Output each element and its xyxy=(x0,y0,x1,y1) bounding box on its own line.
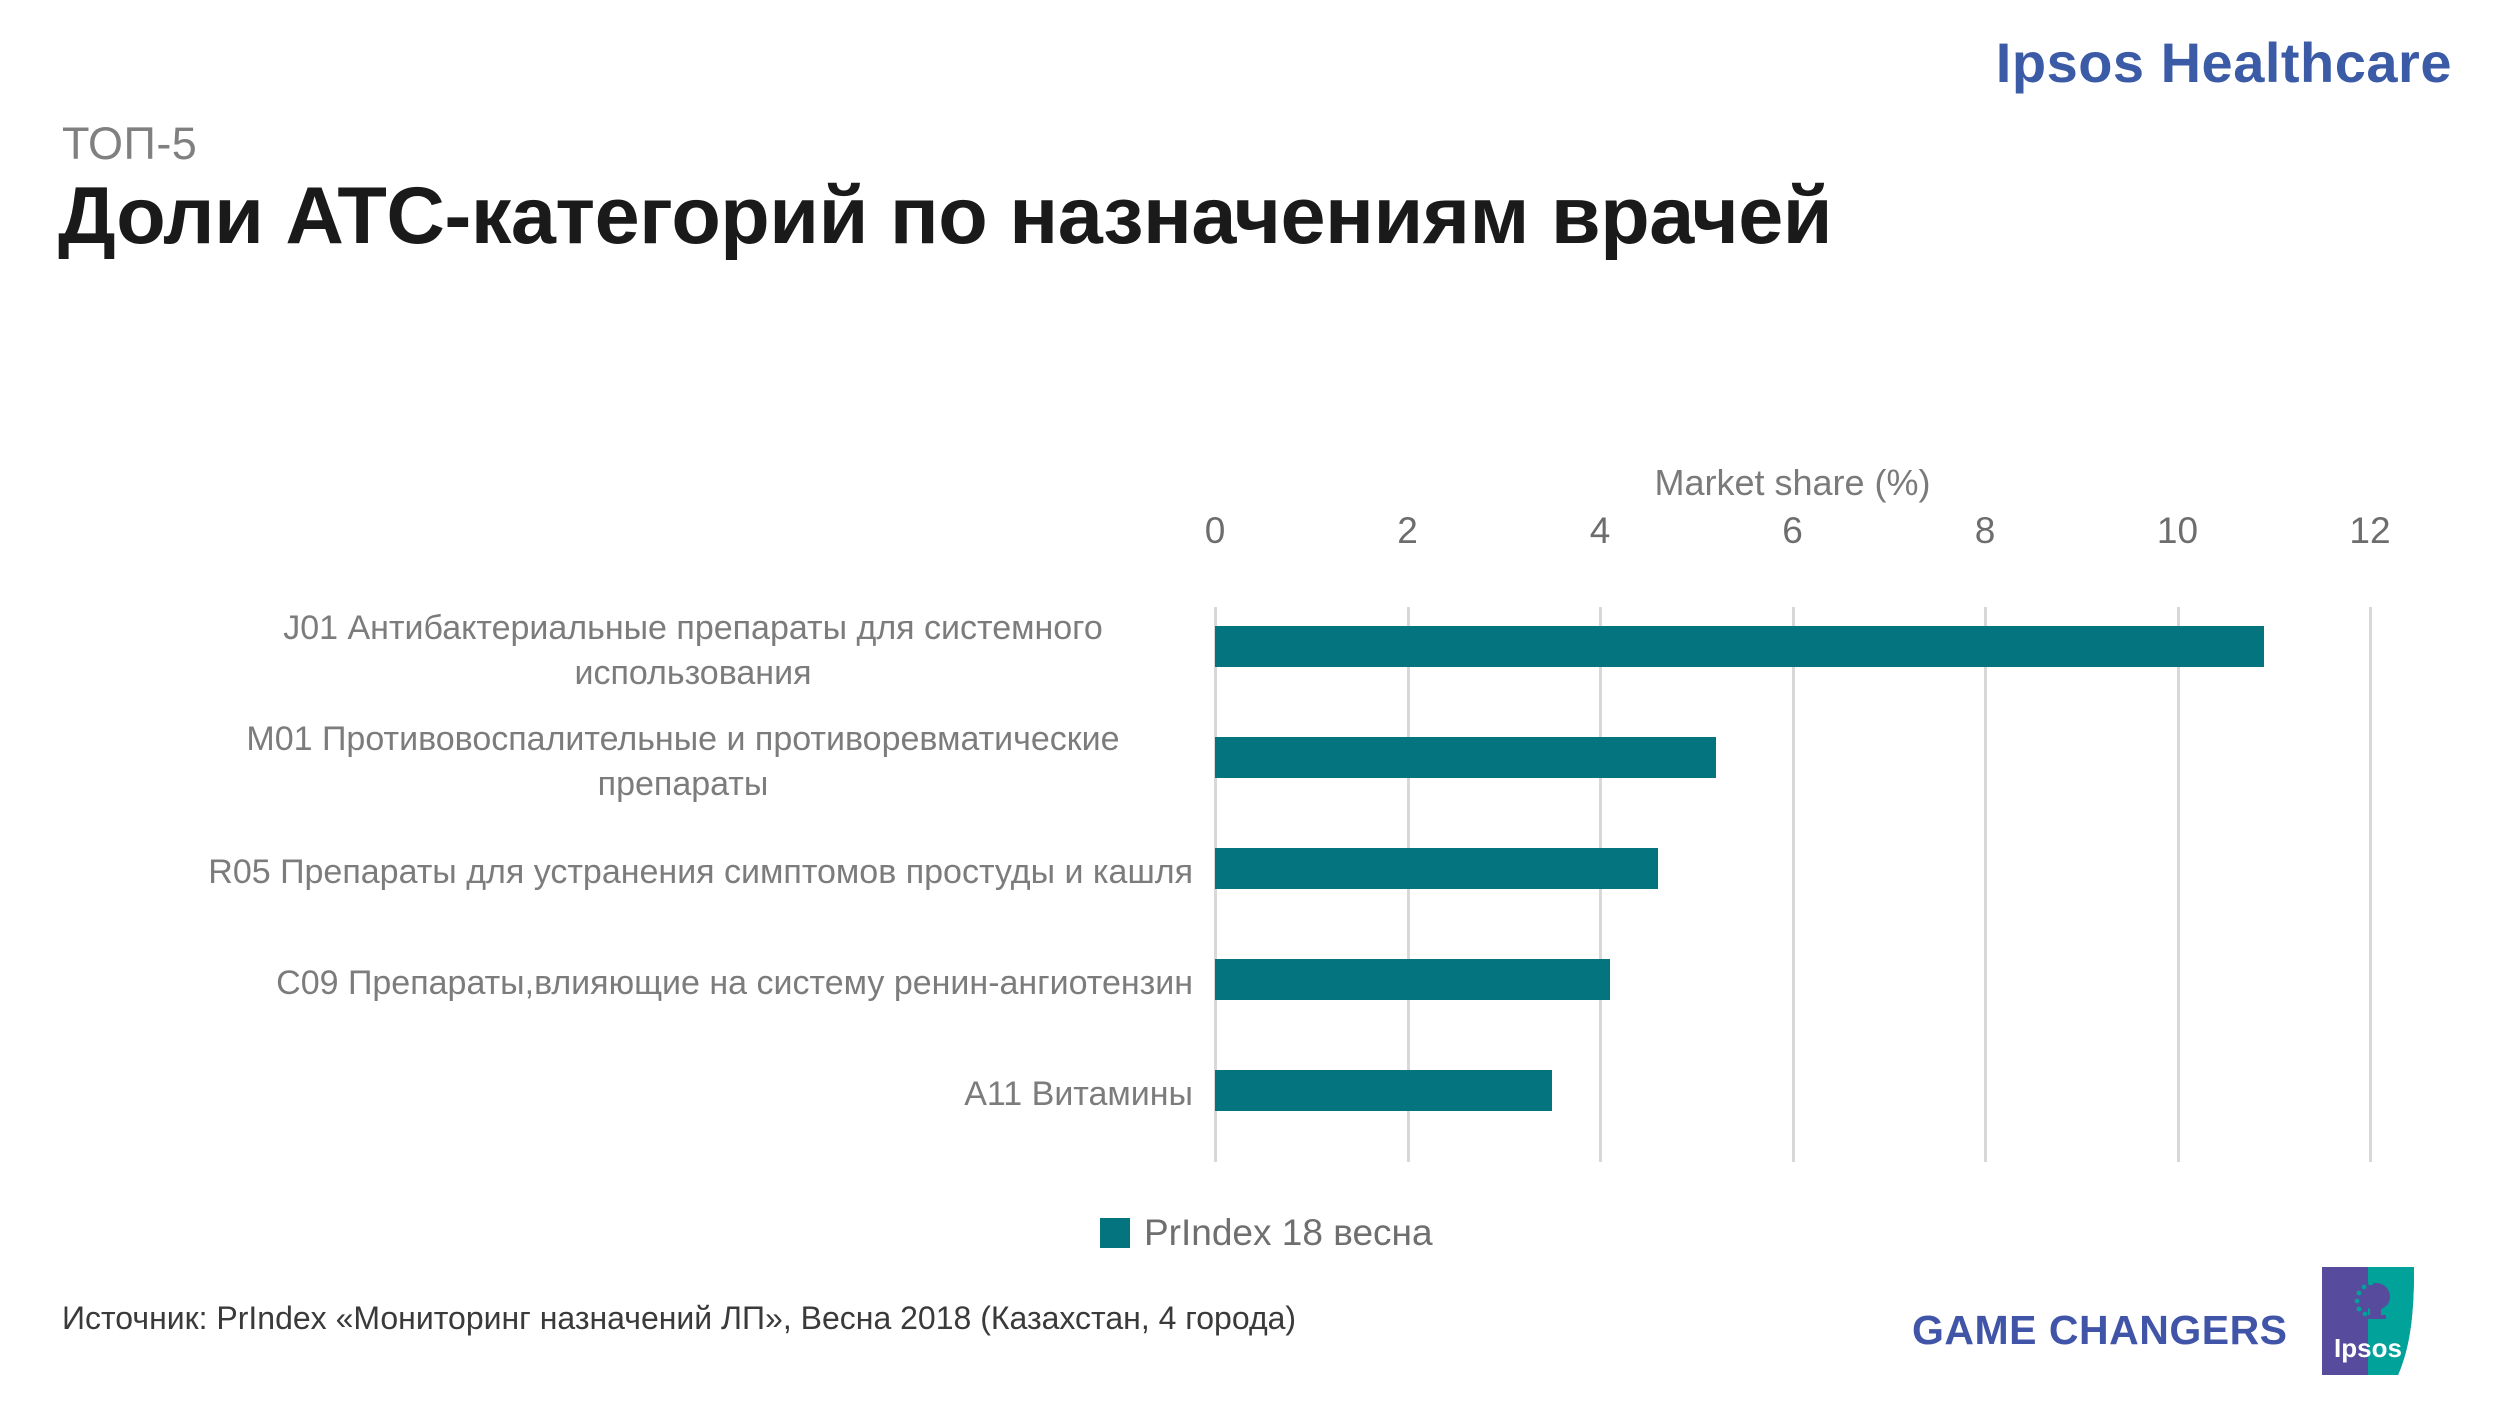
plot-area xyxy=(1215,607,2370,1162)
bar[interactable] xyxy=(1215,1070,1552,1111)
x-tick-label: 4 xyxy=(1590,510,1611,552)
x-axis-title: Market share (%) xyxy=(1215,462,2370,504)
x-tick-label: 8 xyxy=(1975,510,1996,552)
category-label: R05 Препараты для устранения симптомов п… xyxy=(73,825,1193,921)
x-tick-label: 0 xyxy=(1205,510,1226,552)
category-label: C09 Препараты,влияющие на систему ренин-… xyxy=(133,936,1193,1032)
slide-canvas: Ipsos Healthcare ТОП-5 Доли ATC-категори… xyxy=(0,0,2500,1406)
bar-row xyxy=(1215,829,2370,940)
tagline-game-changers: GAME CHANGERS xyxy=(1912,1307,2288,1354)
bar[interactable] xyxy=(1215,848,1658,889)
bar-row xyxy=(1215,718,2370,829)
svg-text:Ipsos: Ipsos xyxy=(2334,1333,2402,1363)
bar-row xyxy=(1215,1051,2370,1162)
bar-row xyxy=(1215,607,2370,718)
x-tick-label: 2 xyxy=(1397,510,1418,552)
bar[interactable] xyxy=(1215,626,2264,667)
chart-legend[interactable]: PrIndex 18 весна xyxy=(1100,1212,1433,1254)
category-label: J01 Антибактериальные препараты для сист… xyxy=(193,603,1193,699)
category-label: M01 Противовоспалительные и противоревма… xyxy=(173,714,1193,810)
bar-row xyxy=(1215,940,2370,1051)
legend-swatch-icon xyxy=(1100,1218,1130,1248)
bar-chart: Market share (%) 024681012 J01 Антибакте… xyxy=(0,0,2500,1406)
source-note: Источник: PrIndex «Мониторинг назначений… xyxy=(62,1300,1296,1337)
category-label: A11 Витамины xyxy=(193,1047,1193,1143)
legend-label: PrIndex 18 весна xyxy=(1144,1212,1433,1254)
ipsos-logo-icon: Ipsos xyxy=(2320,1265,2416,1377)
bar[interactable] xyxy=(1215,737,1716,778)
x-tick-label: 10 xyxy=(2157,510,2198,552)
x-tick-label: 12 xyxy=(2349,510,2390,552)
x-tick-label: 6 xyxy=(1782,510,1803,552)
bar[interactable] xyxy=(1215,959,1610,1000)
